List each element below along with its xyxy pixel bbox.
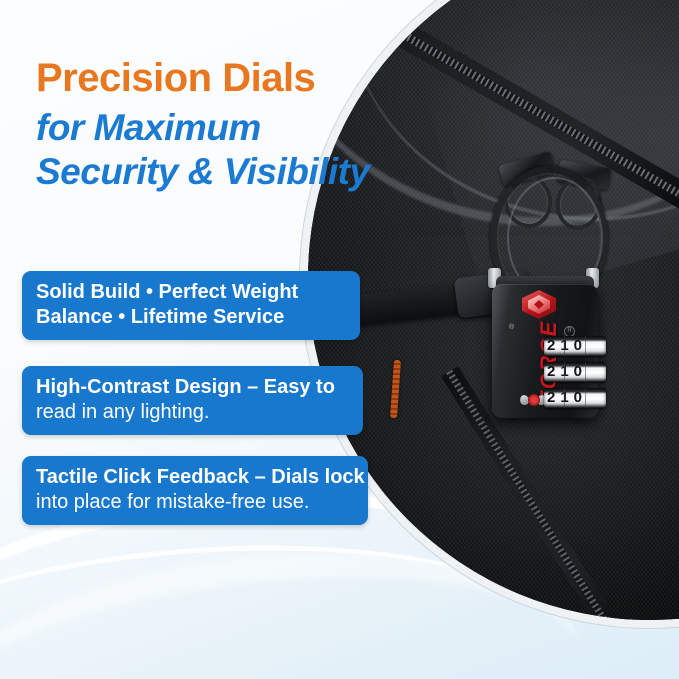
brand-registered-superscript: ® (509, 324, 514, 331)
travel-sentry-logo (520, 392, 546, 408)
tsa-combination-padlock: ® R FORGE 210 210 (486, 172, 616, 422)
combination-dial-2[interactable]: 210 (544, 362, 606, 382)
feature-callout-2-line-2: read in any lighting. (36, 400, 349, 425)
headline-line-1: Precision Dials (36, 54, 436, 102)
combination-dial-1[interactable]: 210 (544, 336, 606, 356)
dial-3-numbers: 210 (547, 389, 587, 407)
promo-image-canvas: ® R FORGE 210 210 (0, 0, 679, 679)
feature-callout-1-line-2: Balance • Lifetime Service (36, 305, 346, 330)
combination-dial-3[interactable]: 210 (544, 388, 606, 408)
dial-3-separator-a (564, 388, 565, 408)
feature-callout-3-line-2: into place for mistake-free use. (36, 490, 354, 515)
dial-1-separator-a (564, 336, 565, 356)
dial-2-separator-b (585, 362, 586, 382)
headline-line-2: for Maximum (36, 106, 436, 150)
feature-callout-2: High-Contrast Design – Easy to read in a… (22, 366, 363, 435)
padlock-body: ® R FORGE 210 210 (492, 284, 598, 418)
feature-callout-1: Solid Build • Perfect Weight Balance • L… (22, 271, 360, 340)
feature-callout-1-line-1: Solid Build • Perfect Weight (36, 280, 346, 305)
combination-dials[interactable]: 210 210 210 (544, 336, 606, 410)
dial-3-separator-b (585, 388, 586, 408)
travel-sentry-dot (528, 394, 540, 406)
headline-block: Precision Dials for Maximum Security & V… (36, 54, 436, 194)
headline-line-3: Security & Visibility (36, 150, 436, 194)
feature-callout-3: Tactile Click Feedback – Dials lock into… (22, 456, 368, 525)
dial-1-separator-b (585, 336, 586, 356)
dial-2-numbers: 210 (547, 363, 587, 381)
dial-1-numbers: 210 (547, 337, 587, 355)
dial-2-separator-a (564, 362, 565, 382)
feature-callout-2-line-1: High-Contrast Design – Easy to (36, 375, 349, 400)
feature-callout-3-line-1: Tactile Click Feedback – Dials lock (36, 465, 354, 490)
